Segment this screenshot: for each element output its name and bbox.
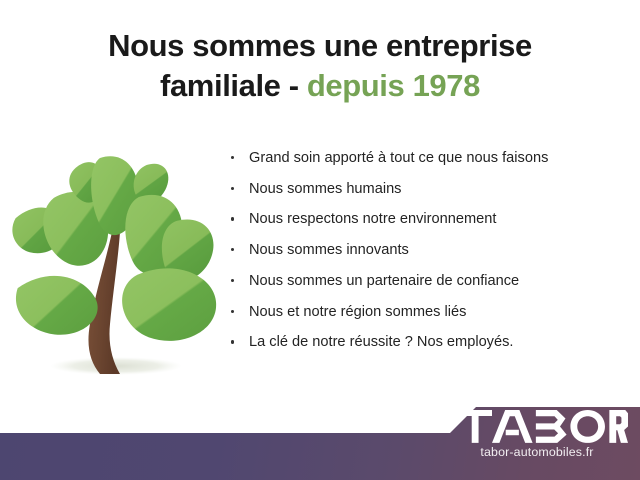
list-item: Nous respectons notre environnement <box>228 210 628 228</box>
footer-band: tabor-automobiles.fr <box>0 400 640 480</box>
headline-accent: depuis 1978 <box>307 68 480 103</box>
brand-tagline: tabor-automobiles.fr <box>448 445 628 459</box>
bullet-dot-icon <box>231 217 234 220</box>
brand-logo[interactable]: tabor-automobiles.fr <box>448 410 628 459</box>
bullet-dot-icon <box>231 187 234 190</box>
tree-illustration-svg <box>8 148 232 392</box>
list-item-label: La clé de notre réussite ? Nos employés. <box>249 334 513 350</box>
list-item: Nous et notre région sommes liés <box>228 303 628 321</box>
bullet-dot-icon <box>231 340 234 343</box>
list-item-label: Nous sommes humains <box>249 181 401 197</box>
list-item-label: Nous et notre région sommes liés <box>249 304 466 320</box>
bullet-dot-icon <box>231 310 234 313</box>
headline-line-2-main: familiale - <box>160 68 307 103</box>
bullet-dot-icon <box>231 156 234 159</box>
tree-illustration <box>8 148 232 392</box>
list-item-label: Nous respectons notre environnement <box>249 211 496 227</box>
list-item: Nous sommes innovants <box>228 241 628 259</box>
list-item: Nous sommes humains <box>228 180 628 198</box>
list-item: Nous sommes un partenaire de confiance <box>228 272 628 290</box>
list-item-label: Nous sommes innovants <box>249 242 409 258</box>
slide-canvas: Nous sommes une entreprise familiale - d… <box>0 0 640 480</box>
value-list: Grand soin apporté à tout ce que nous fa… <box>228 149 628 364</box>
bullet-dot-icon <box>231 248 234 251</box>
list-item-label: Nous sommes un partenaire de confiance <box>249 273 519 289</box>
headline-line-1: Nous sommes une entreprise <box>36 26 604 66</box>
page-title: Nous sommes une entreprise familiale - d… <box>0 26 640 105</box>
bullet-dot-icon <box>231 279 234 282</box>
tabor-wordmark-icon <box>458 410 628 444</box>
list-item: Grand soin apporté à tout ce que nous fa… <box>228 149 628 167</box>
list-item: La clé de notre réussite ? Nos employés. <box>228 333 628 351</box>
headline-line-2: familiale - depuis 1978 <box>36 66 604 106</box>
list-item-label: Grand soin apporté à tout ce que nous fa… <box>249 150 548 166</box>
